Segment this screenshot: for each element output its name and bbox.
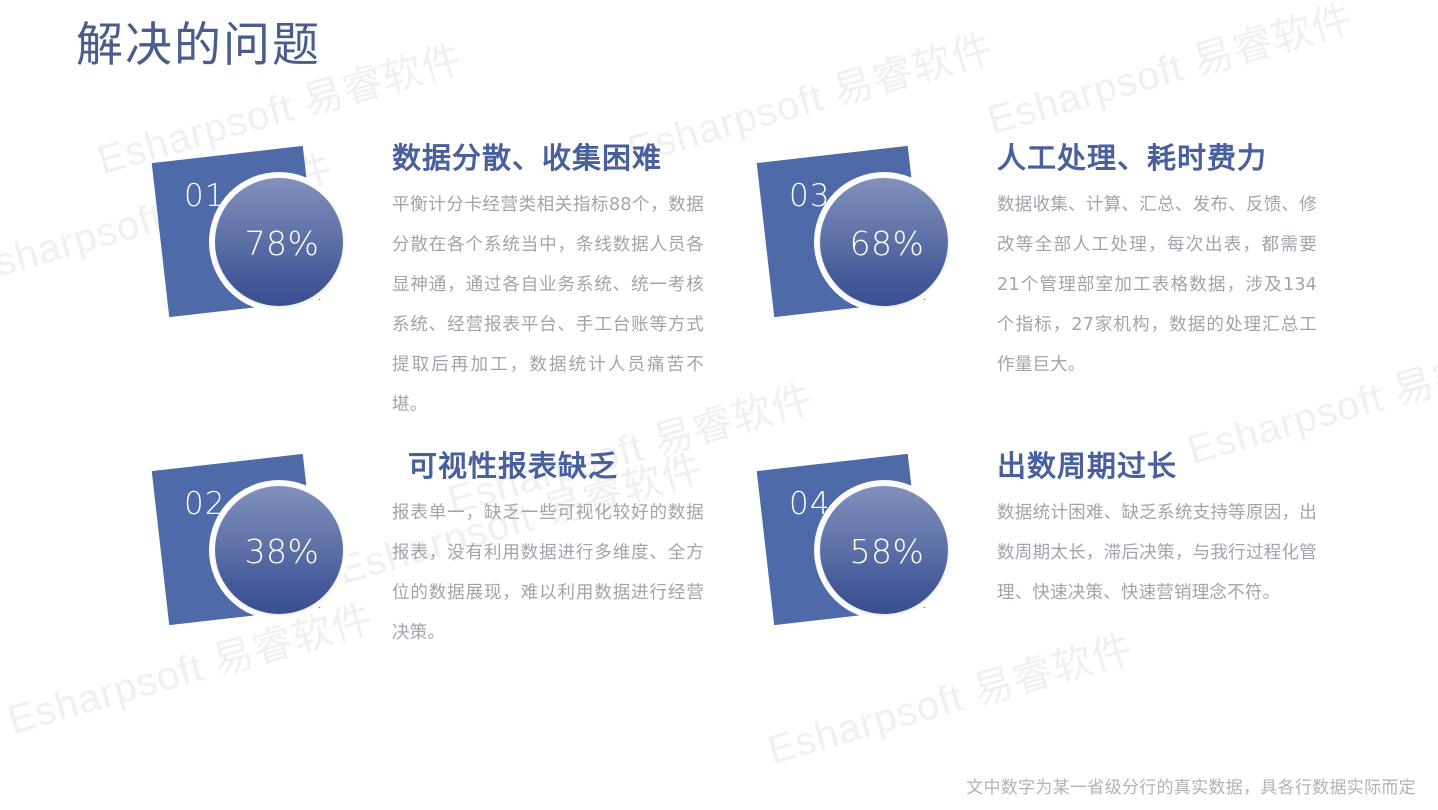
slide-canvas: Esharpsoft 易睿软件Esharpsoft 易睿软件Esharpsoft…	[0, 0, 1438, 810]
footnote-text: 文中数字为某一省级分行的真实数据，具各行数据实际而定	[966, 773, 1416, 798]
badge-percent-label: 78%	[245, 224, 320, 263]
badge-circle-shape: 58%	[820, 486, 948, 614]
badge-circle-shape: 78%	[215, 178, 343, 306]
card-text-block: 人工处理、耗时费力 数据收集、计算、汇总、发布、反馈、修改等全部人工处理，每次出…	[997, 140, 1317, 385]
card-body: 数据收集、计算、汇总、发布、反馈、修改等全部人工处理，每次出表，都需要21个管理…	[997, 185, 1317, 385]
card-title: 数据分散、收集困难	[392, 140, 704, 176]
badge-04: 04 58%	[757, 448, 962, 658]
card-title: 人工处理、耗时费力	[997, 140, 1317, 176]
badge-02: 02 38%	[152, 448, 357, 658]
card-body: 报表单一，缺乏一些可视化较好的数据报表，没有利用数据进行多维度、全方位的数据展现…	[392, 493, 704, 653]
card-body: 数据统计困难、缺乏系统支持等原因，出数周期太长，滞后决策，与我行过程化管理、快速…	[997, 493, 1317, 613]
watermark-layer: Esharpsoft 易睿软件Esharpsoft 易睿软件Esharpsoft…	[0, 0, 1438, 810]
badge-01: 01 78%	[152, 140, 357, 350]
badge-circle-shape: 38%	[215, 486, 343, 614]
badge-circle-shape: 68%	[820, 178, 948, 306]
badge-percent-label: 68%	[850, 224, 925, 263]
card-text-block: 出数周期过长 数据统计困难、缺乏系统支持等原因，出数周期太长，滞后决策，与我行过…	[997, 448, 1317, 613]
page-title: 解决的问题	[76, 20, 321, 72]
card-text-block: 数据分散、收集困难 平衡计分卡经营类相关指标88个，数据分散在各个系统当中，条线…	[392, 140, 704, 425]
badge-03: 03 68%	[757, 140, 962, 350]
watermark-text: Esharpsoft 易睿软件	[980, 0, 1359, 146]
card-body: 平衡计分卡经营类相关指标88个，数据分散在各个系统当中，条线数据人员各显神通，通…	[392, 185, 704, 425]
badge-percent-label: 58%	[850, 532, 925, 571]
card-title: 可视性报表缺乏	[392, 448, 704, 484]
card-title: 出数周期过长	[997, 448, 1317, 484]
badge-percent-label: 38%	[245, 532, 320, 571]
card-text-block: 可视性报表缺乏 报表单一，缺乏一些可视化较好的数据报表，没有利用数据进行多维度、…	[392, 448, 704, 653]
